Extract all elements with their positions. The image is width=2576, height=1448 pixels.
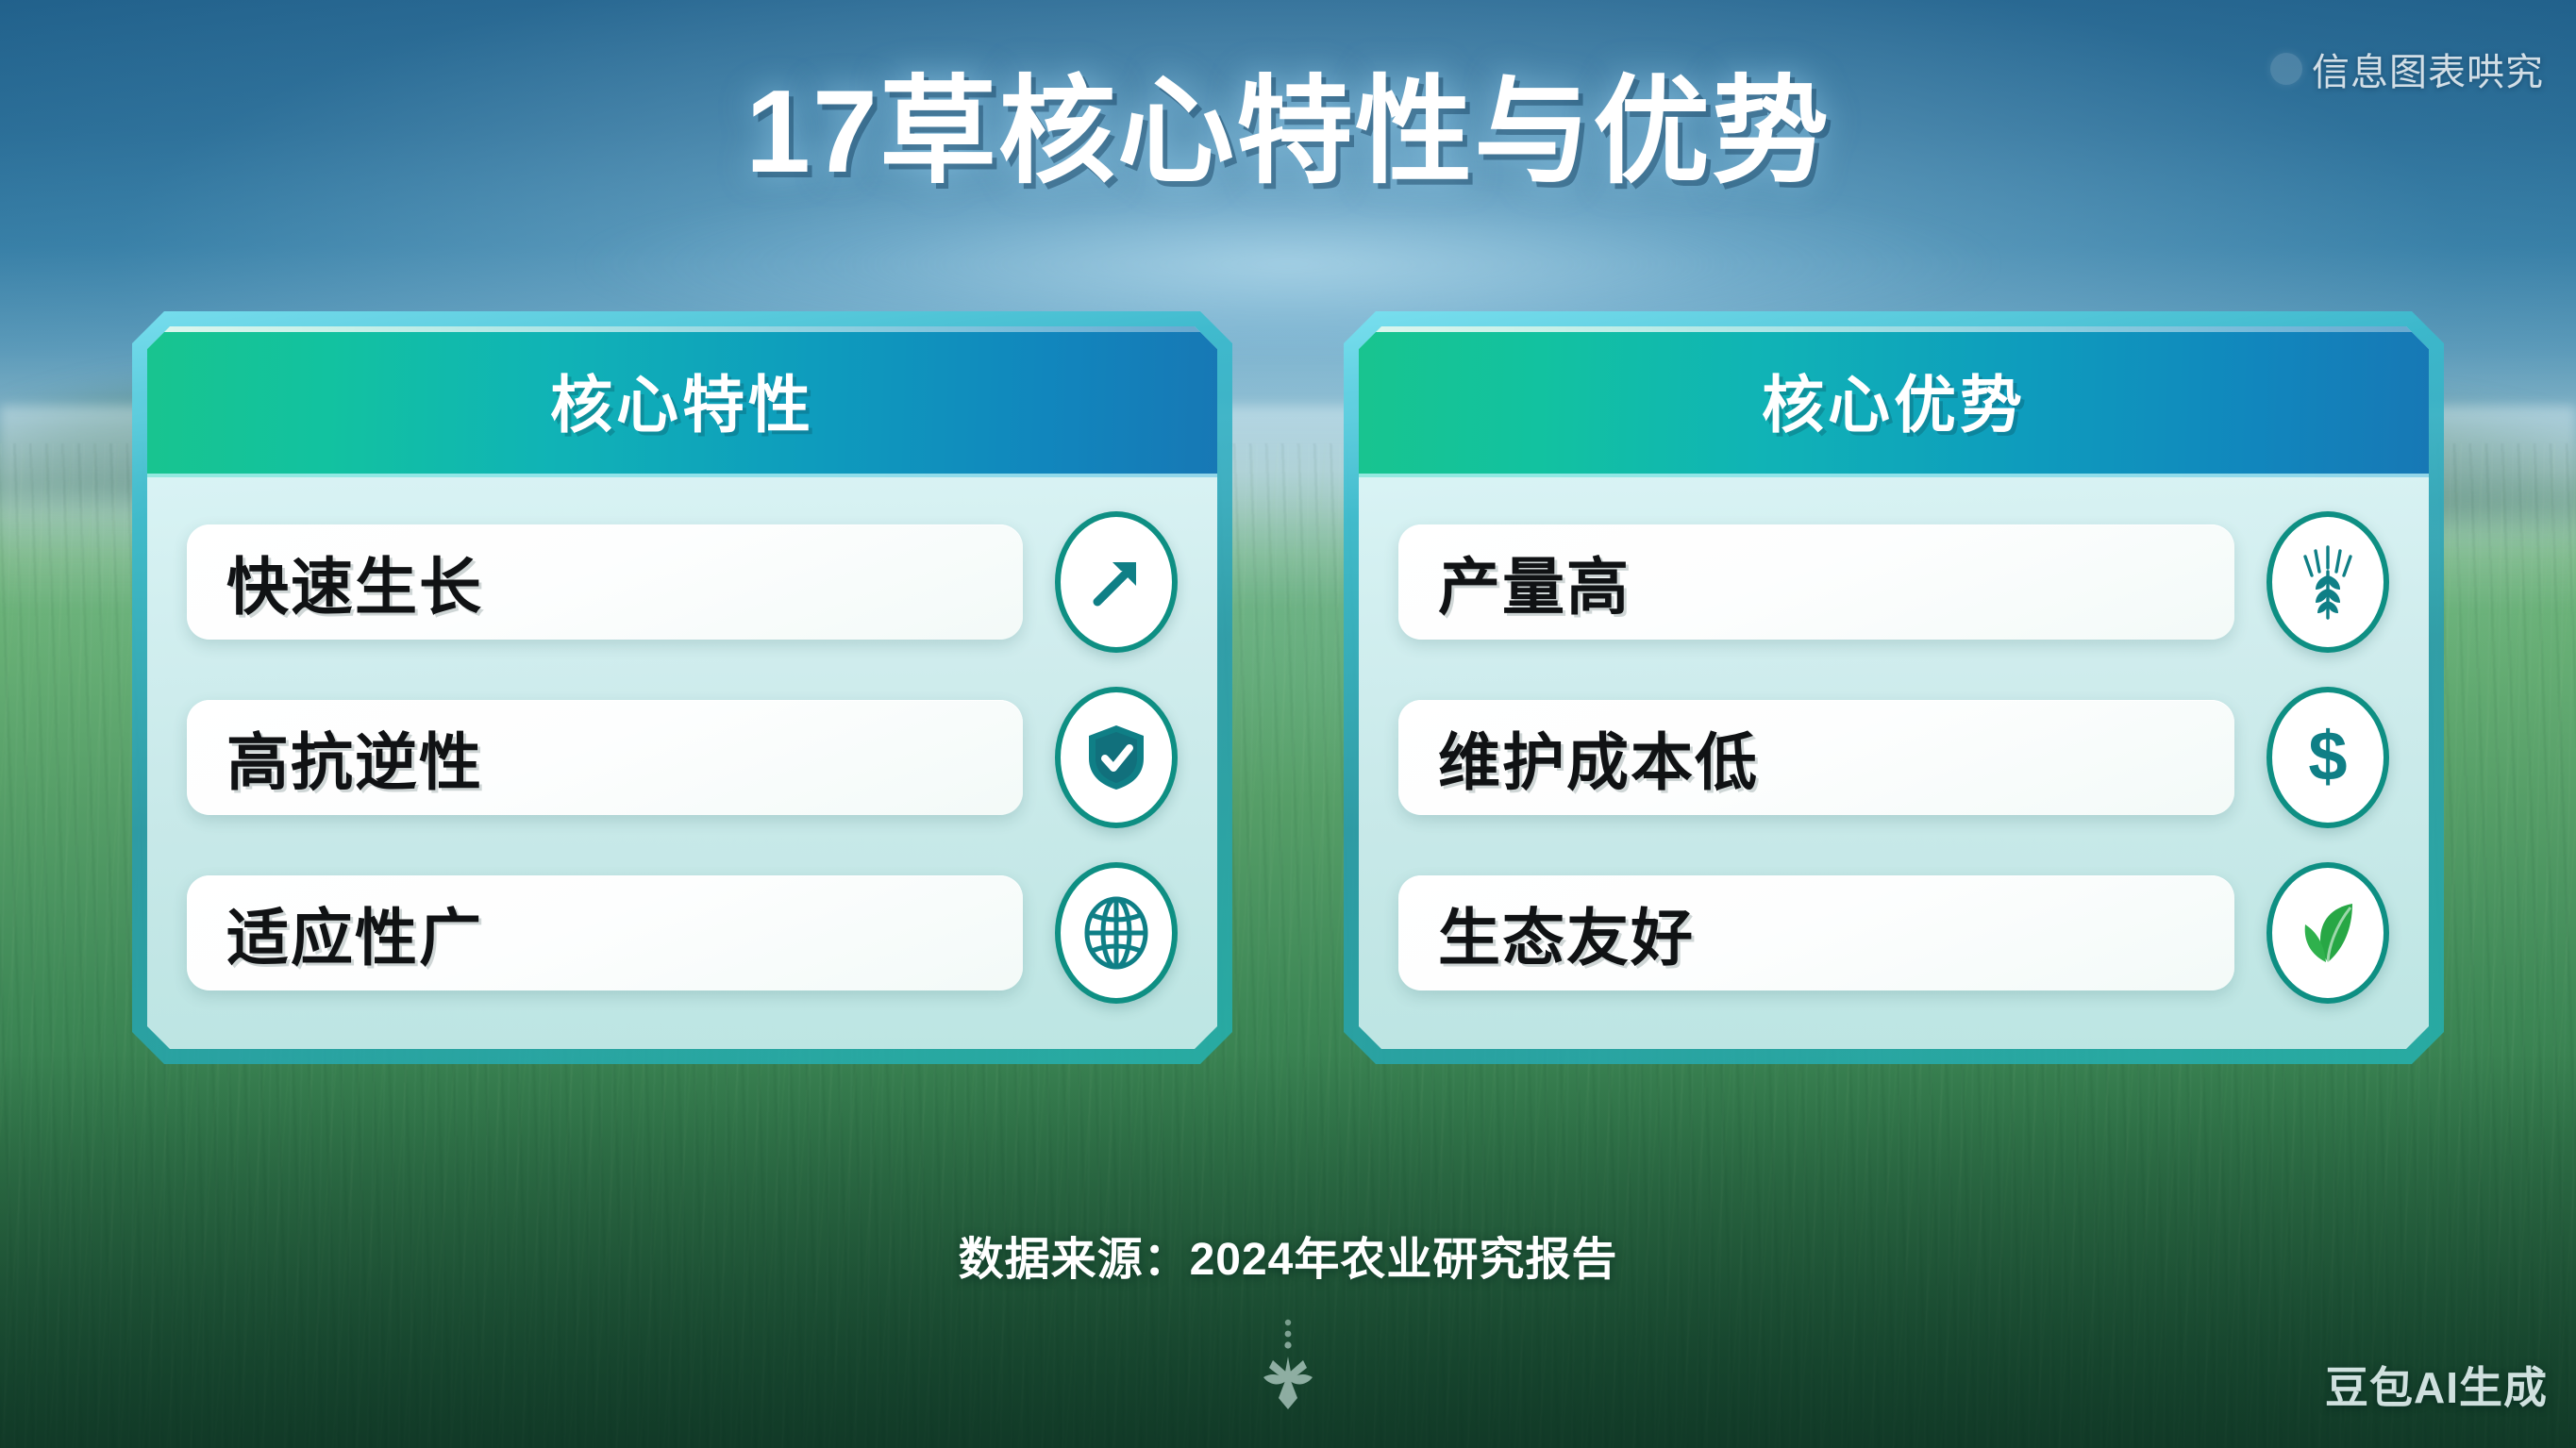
watermark-top: 信息图表哄究 — [2270, 42, 2544, 96]
list-item[interactable]: 适应性广 — [187, 862, 1178, 1004]
advantage-label: 维护成本低 — [1438, 712, 1759, 803]
globe-icon — [1055, 862, 1178, 1004]
page-title: 17草核心特性与优势 — [0, 74, 2576, 191]
card-inner: 核心特性 快速生长 — [147, 326, 1217, 1049]
feature-pill[interactable]: 适应性广 — [187, 875, 1023, 990]
dollar-sign-icon: $ — [2267, 687, 2389, 828]
card-inner: 核心优势 产量高 — [1359, 326, 2429, 1049]
feature-label: 快速生长 — [226, 537, 483, 627]
shield-check-icon — [1055, 687, 1178, 828]
svg-text:$: $ — [2308, 718, 2347, 795]
feature-label: 高抗逆性 — [226, 712, 483, 803]
feature-pill[interactable]: 高抗逆性 — [187, 700, 1023, 815]
leaf-icon — [2267, 862, 2389, 1004]
list-item[interactable]: 高抗逆性 — [187, 687, 1178, 828]
card-header-label: 核心特性 — [550, 355, 814, 445]
card-core-advantages: 核心优势 产量高 — [1344, 311, 2444, 1064]
card-header: 核心特性 — [147, 326, 1217, 477]
wheat-icon — [2267, 511, 2389, 653]
sparkle-flower-icon — [1231, 1319, 1345, 1427]
list-item[interactable]: 维护成本低 $ — [1398, 687, 2389, 828]
watermark-top-label: 信息图表哄究 — [2312, 42, 2544, 96]
feature-pill[interactable]: 快速生长 — [187, 524, 1023, 640]
watermark-bottom: 豆包AI生成 — [2325, 1354, 2548, 1416]
card-header: 核心优势 — [1359, 326, 2429, 477]
feature-label: 适应性广 — [226, 888, 483, 978]
card-header-label: 核心优势 — [1762, 355, 2026, 445]
card-core-features: 核心特性 快速生长 — [132, 311, 1232, 1064]
list-item[interactable]: 产量高 — [1398, 511, 2389, 653]
advantage-label: 产量高 — [1438, 537, 1631, 627]
infographic-slide: 17草核心特性与优势 信息图表哄究 核心特性 快速生长 — [0, 0, 2576, 1448]
arrow-up-right-icon — [1055, 511, 1178, 653]
list-item[interactable]: 生态友好 — [1398, 862, 2389, 1004]
card-body: 快速生长 高抗逆性 — [147, 477, 1217, 1049]
circle-badge-icon — [2270, 53, 2302, 85]
advantage-pill[interactable]: 维护成本低 — [1398, 700, 2234, 815]
advantage-label: 生态友好 — [1438, 888, 1695, 978]
cards-container: 核心特性 快速生长 — [132, 311, 2444, 1064]
card-body: 产量高 — [1359, 477, 2429, 1049]
advantage-pill[interactable]: 产量高 — [1398, 524, 2234, 640]
data-source-note: 数据来源：2024年农业研究报告 — [0, 1222, 2576, 1288]
list-item[interactable]: 快速生长 — [187, 511, 1178, 653]
advantage-pill[interactable]: 生态友好 — [1398, 875, 2234, 990]
